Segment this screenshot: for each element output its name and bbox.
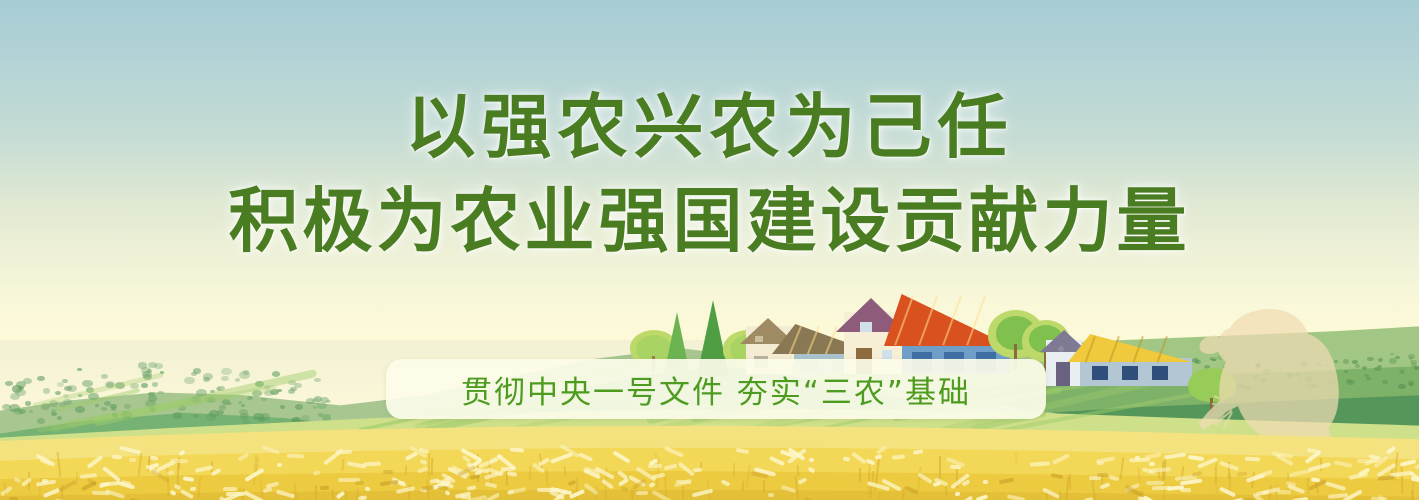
subtitle-text: 贯彻中央一号文件 夯实“三农”基础 [461,367,971,412]
title-line-2: 积极为农业强国建设贡献力量 [0,186,1419,256]
subtitle-pill: 贯彻中央一号文件 夯实“三农”基础 [386,359,1046,419]
sky-gradient [0,0,1419,340]
title-line-1: 以强农兴农为己任 [0,92,1419,162]
agriculture-promotional-banner: 以强农兴农为己任 积极为农业强国建设贡献力量 贯彻中央一号文件 夯实“三农”基础 [0,0,1419,500]
banner-title: 以强农兴农为己任 积极为农业强国建设贡献力量 [0,92,1419,256]
